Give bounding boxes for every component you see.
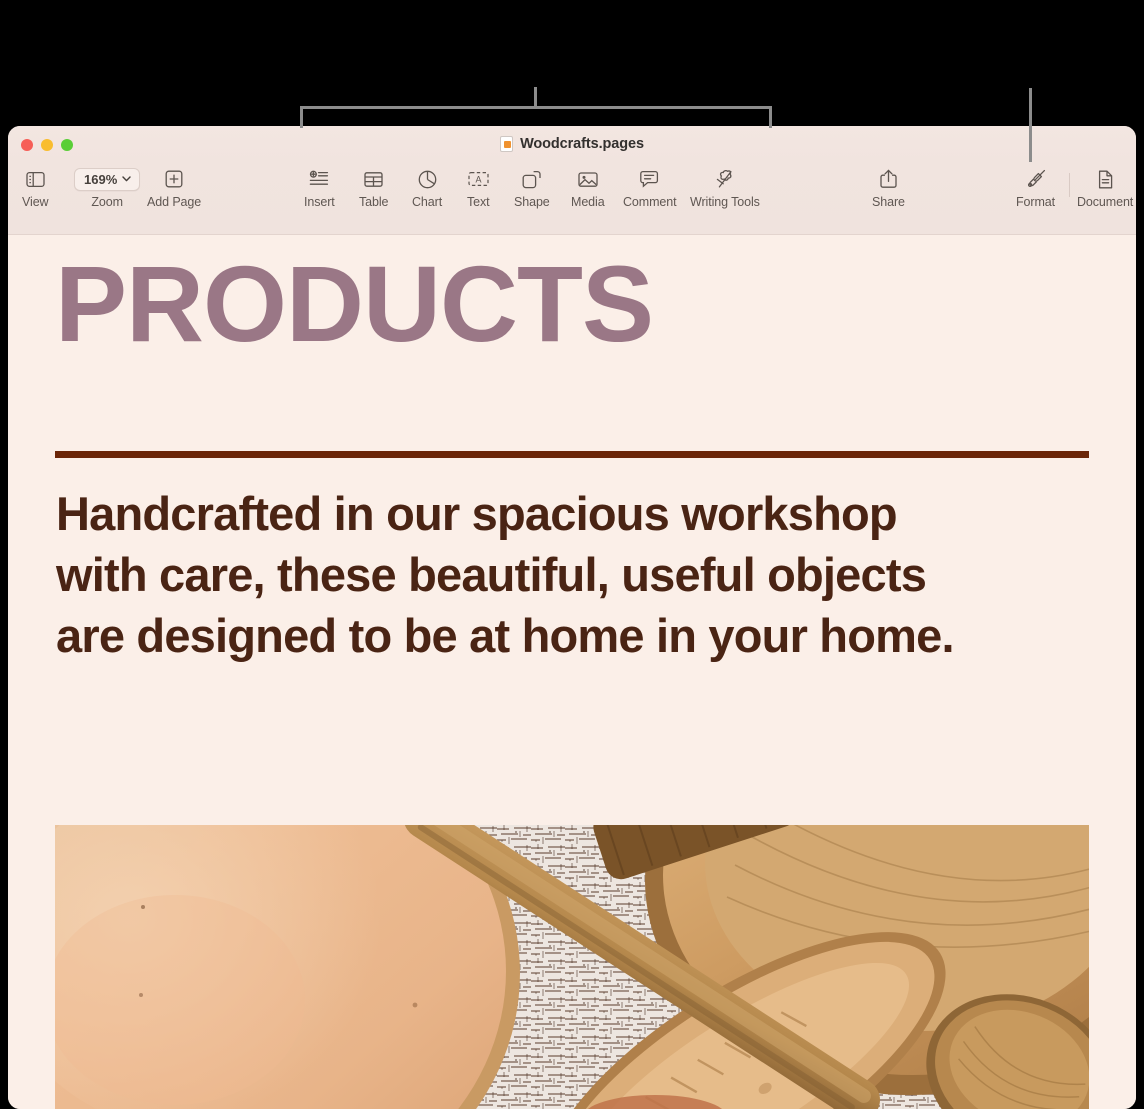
toolbar-label-writing-tools: Writing Tools [690,195,760,209]
toolbar-button-text[interactable]: A Text [467,166,490,209]
media-image-icon [578,166,598,192]
toolbar-label-chart: Chart [412,195,442,209]
toolbar-button-add-page[interactable]: Add Page [147,166,201,209]
shape-icon [522,166,541,192]
toolbar: View 169% Zoom [8,162,1136,235]
toolbar-label-format: Format [1016,195,1055,209]
window-title-text: Woodcrafts.pages [520,136,644,152]
chart-pie-icon [418,166,437,192]
toolbar-label-insert: Insert [304,195,335,209]
callout-bracket-stem [534,87,537,108]
zoom-pill[interactable]: 169% [74,166,140,192]
toolbar-button-insert[interactable]: Insert [304,166,335,209]
toolbar-button-shape[interactable]: Shape [514,166,550,209]
toolbar-button-comment[interactable]: Comment [623,166,676,209]
toolbar-separator [1069,173,1070,197]
toolbar-button-share[interactable]: Share [872,166,905,209]
text-box-icon: A [468,166,489,192]
wooden-bowls-and-spoons-photo[interactable] [55,825,1089,1109]
writing-tools-icon [714,166,735,192]
zoom-value: 169% [84,172,117,187]
toolbar-button-media[interactable]: Media [571,166,605,209]
table-icon [364,166,383,192]
toolbar-label-shape: Shape [514,195,550,209]
heading-rule [55,451,1089,458]
toolbar-label-zoom: Zoom [91,195,123,209]
plus-square-icon [165,166,183,192]
chevron-down-icon [122,176,131,182]
annotation-layer [0,0,1144,128]
window-title: Woodcrafts.pages [8,136,1136,152]
body-paragraph[interactable]: Handcrafted in our spacious workshop wit… [56,483,996,666]
document-canvas[interactable]: PRODUCTS Handcrafted in our spacious wor… [8,235,1136,1109]
toolbar-label-media: Media [571,195,605,209]
comment-icon [640,166,659,192]
sidebar-icon [26,166,45,192]
toolbar-button-table[interactable]: Table [359,166,388,209]
pages-document-icon [500,136,513,152]
insert-icon [309,166,329,192]
callout-bracket-insert-tools [300,106,772,128]
toolbar-button-writing-tools[interactable]: Writing Tools [690,166,760,209]
svg-text:A: A [475,174,481,184]
toolbar-label-add-page: Add Page [147,195,201,209]
toolbar-button-document[interactable]: Document [1077,166,1133,209]
document-icon [1097,166,1114,192]
window-titlebar: Woodcrafts.pages [8,126,1136,162]
toolbar-button-format[interactable]: Format [1016,166,1055,209]
pages-app-window: Woodcrafts.pages View 169% [8,126,1136,1109]
toolbar-label-view: View [22,195,48,209]
format-brush-icon [1026,166,1046,192]
toolbar-label-share: Share [872,195,905,209]
toolbar-label-document: Document [1077,195,1133,209]
toolbar-button-chart[interactable]: Chart [412,166,442,209]
toolbar-label-comment: Comment [623,195,676,209]
toolbar-control-zoom[interactable]: 169% Zoom [74,166,140,209]
callout-line-format [1029,88,1032,162]
toolbar-label-text: Text [467,195,490,209]
page-title[interactable]: PRODUCTS [55,247,653,360]
share-icon [880,166,897,192]
toolbar-label-table: Table [359,195,388,209]
toolbar-button-view[interactable]: View [22,166,48,209]
